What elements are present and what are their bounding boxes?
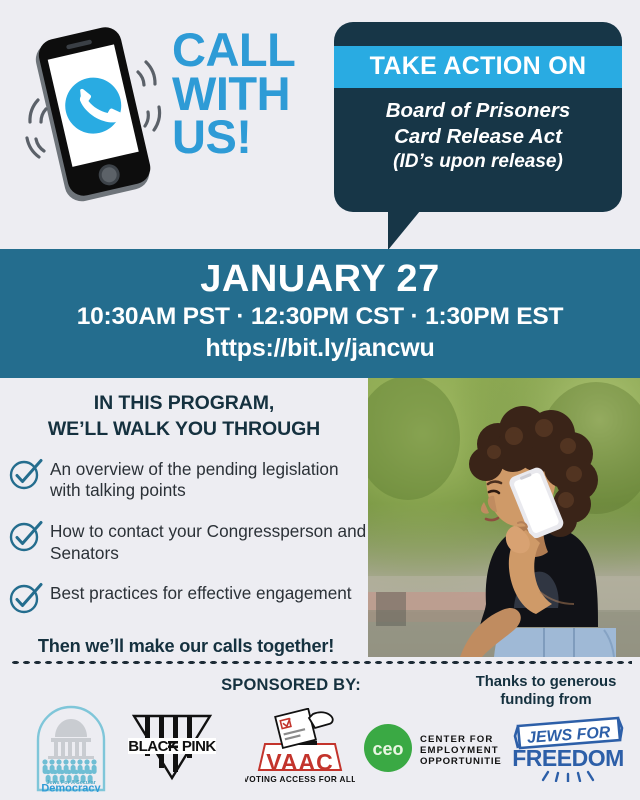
headline-line-3: US! bbox=[172, 115, 322, 159]
ceo-line-2: EMPLOYMENT bbox=[420, 745, 499, 756]
bill-title-line-2: Card Release Act bbox=[346, 124, 610, 150]
event-date: JANUARY 27 bbox=[0, 258, 640, 301]
ceo-line-1: CENTER FOR bbox=[420, 734, 493, 745]
headline-line-2: WITH bbox=[172, 72, 322, 116]
jfsd-wordmark: Democracy bbox=[41, 783, 101, 793]
page-title: CALL WITH US! bbox=[172, 28, 322, 159]
sponsor-logo-row: Jews For A Secular Democracy BLACK PINK bbox=[0, 700, 640, 798]
registration-link[interactable]: https://bit.ly/jancwu bbox=[0, 332, 640, 366]
logo-center-for-employment-opportunities: ceo CENTER FOR EMPLOYMENT OPPORTUNITIES bbox=[362, 722, 502, 774]
take-action-speech-bubble: TAKE ACTION ON Board of Prisoners Card R… bbox=[334, 22, 622, 212]
logo-black-and-pink: BLACK PINK bbox=[118, 708, 226, 784]
logo-jews-for-freedom: JEWS FOR FREEDOM bbox=[512, 714, 624, 782]
program-heading-line-2: WE’LL WALK YOU THROUGH bbox=[18, 416, 350, 442]
logo-vaac: VAAC VOTING ACCESS FOR ALL bbox=[245, 708, 355, 786]
list-item-label: An overview of the pending legislation w… bbox=[50, 457, 368, 502]
list-item-label: How to contact your Congressperson and S… bbox=[50, 519, 368, 564]
vaac-acronym: VAAC bbox=[266, 749, 333, 775]
ceo-mark: ceo bbox=[372, 739, 403, 759]
checkmark-icon bbox=[8, 581, 46, 615]
list-item: An overview of the pending legislation w… bbox=[8, 457, 368, 502]
photo-person-on-phone bbox=[368, 378, 640, 657]
list-item: Best practices for effective engagement bbox=[8, 581, 368, 615]
program-closing-line: Then we’ll make our calls together! bbox=[0, 632, 368, 657]
sponsored-by-label: SPONSORED BY: bbox=[186, 676, 396, 695]
vaac-tagline: VOTING ACCESS FOR ALL bbox=[245, 775, 355, 784]
event-details-banner: JANUARY 27 10:30AM PST · 12:30PM CST · 1… bbox=[0, 249, 640, 378]
checkmark-icon bbox=[8, 457, 46, 491]
bill-title: Board of Prisoners Card Release Act (ID’… bbox=[334, 88, 622, 175]
list-item: How to contact your Congressperson and S… bbox=[8, 519, 368, 564]
dotted-divider bbox=[10, 660, 632, 665]
event-times: 10:30AM PST · 12:30PM CST · 1:30PM EST bbox=[0, 301, 640, 333]
program-heading: IN THIS PROGRAM, WE’LL WALK YOU THROUGH bbox=[0, 382, 368, 443]
list-item-label: Best practices for effective engagement bbox=[50, 581, 352, 605]
checkmark-icon bbox=[8, 519, 46, 553]
bill-subtitle: (ID’s upon release) bbox=[346, 150, 610, 174]
ringing-smartphone-icon bbox=[8, 18, 178, 213]
jff-line-2: FREEDOM bbox=[512, 745, 624, 771]
bill-title-line-1: Board of Prisoners bbox=[346, 98, 610, 124]
program-bullet-list: An overview of the pending legislation w… bbox=[0, 457, 368, 616]
take-action-banner-label: TAKE ACTION ON bbox=[334, 46, 622, 88]
ceo-line-3: OPPORTUNITIES bbox=[420, 756, 502, 767]
headline-line-1: CALL bbox=[172, 28, 322, 72]
funding-thanks-line-1: Thanks to generous bbox=[452, 673, 640, 691]
program-heading-line-1: IN THIS PROGRAM, bbox=[18, 390, 350, 416]
speech-bubble-tail bbox=[388, 211, 420, 250]
hero-section: CALL WITH US! TAKE ACTION ON Board of Pr… bbox=[0, 0, 640, 249]
logo-jews-for-a-secular-democracy: Jews For A Secular Democracy bbox=[30, 702, 112, 792]
program-section: IN THIS PROGRAM, WE’LL WALK YOU THROUGH … bbox=[0, 382, 368, 657]
poster-canvas: CALL WITH US! TAKE ACTION ON Board of Pr… bbox=[0, 0, 640, 800]
